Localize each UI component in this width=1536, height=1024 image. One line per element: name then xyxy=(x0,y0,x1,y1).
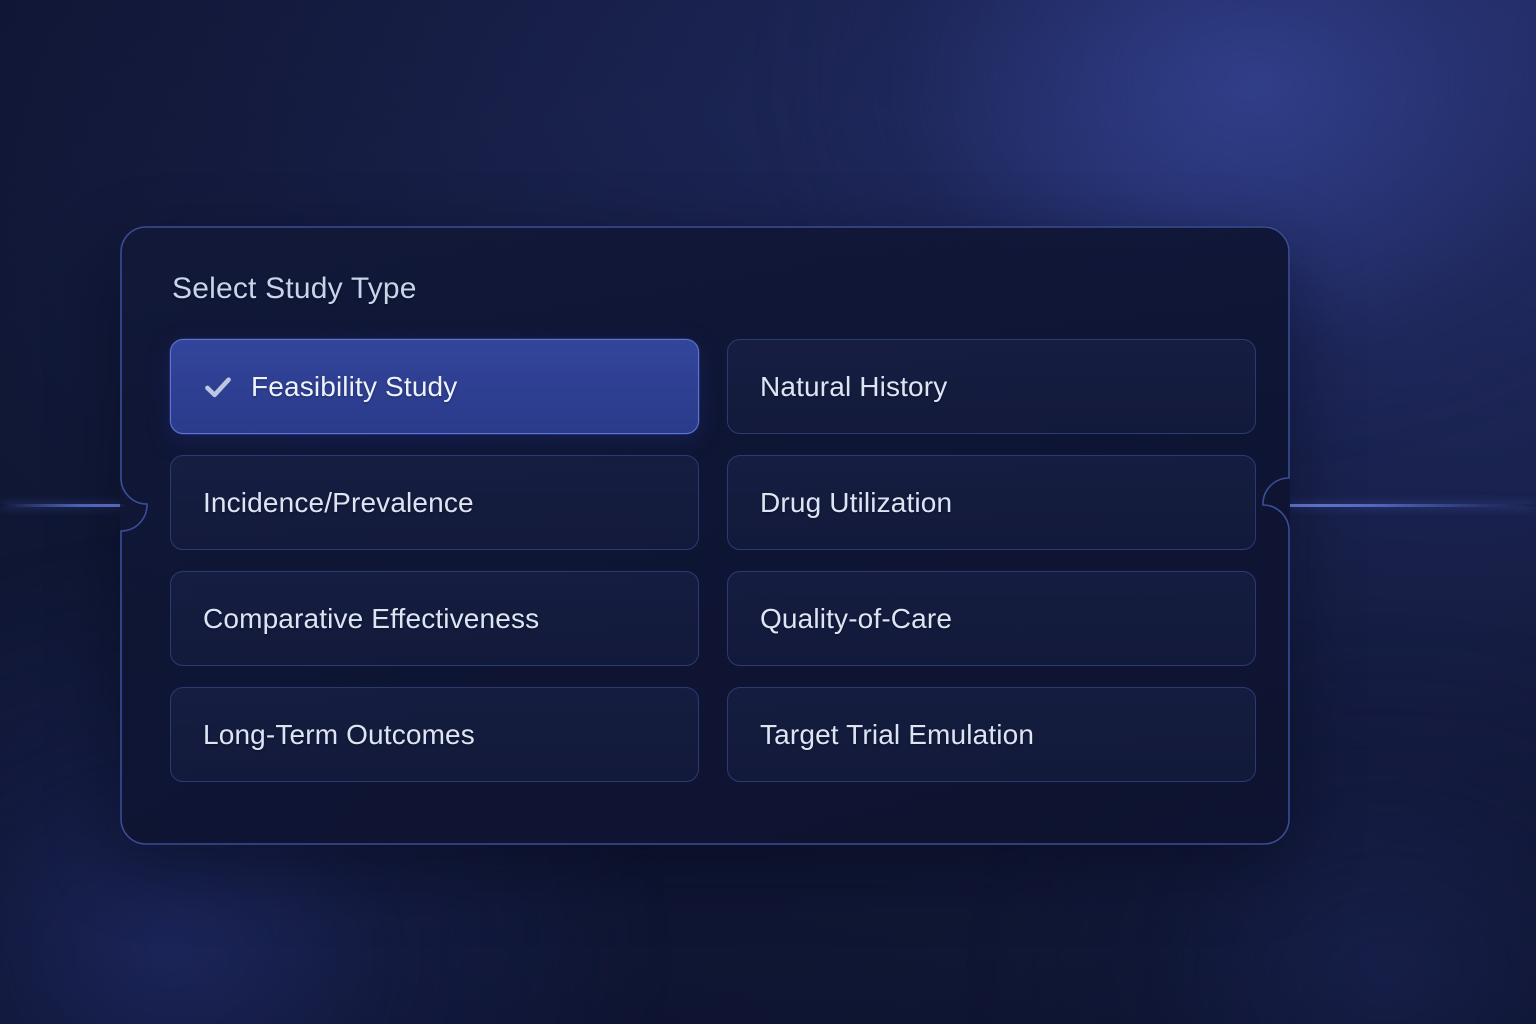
option-label: Target Trial Emulation xyxy=(760,719,1034,751)
option-feasibility-study[interactable]: Feasibility Study xyxy=(170,339,699,434)
option-natural-history[interactable]: Natural History xyxy=(727,339,1256,434)
option-label: Long-Term Outcomes xyxy=(203,719,475,751)
option-label: Natural History xyxy=(760,371,947,403)
check-icon xyxy=(201,370,235,404)
page-title: Select Study Type xyxy=(172,272,1242,305)
option-label: Comparative Effectiveness xyxy=(203,603,539,635)
panel-content: Select Study Type Feasibility Study Natu… xyxy=(120,226,1290,845)
option-comparative-effectiveness[interactable]: Comparative Effectiveness xyxy=(170,571,699,666)
study-type-panel: Select Study Type Feasibility Study Natu… xyxy=(120,226,1290,845)
study-type-grid: Feasibility Study Natural History Incide… xyxy=(170,339,1242,782)
option-label: Feasibility Study xyxy=(251,371,457,403)
option-target-trial-emulation[interactable]: Target Trial Emulation xyxy=(727,687,1256,782)
screen-root: Select Study Type Feasibility Study Natu… xyxy=(0,0,1536,1024)
option-long-term-outcomes[interactable]: Long-Term Outcomes xyxy=(170,687,699,782)
option-drug-utilization[interactable]: Drug Utilization xyxy=(727,455,1256,550)
option-incidence-prevalence[interactable]: Incidence/Prevalence xyxy=(170,455,699,550)
option-label: Drug Utilization xyxy=(760,487,952,519)
option-quality-of-care[interactable]: Quality-of-Care xyxy=(727,571,1256,666)
option-label: Incidence/Prevalence xyxy=(203,487,474,519)
option-label: Quality-of-Care xyxy=(760,603,952,635)
